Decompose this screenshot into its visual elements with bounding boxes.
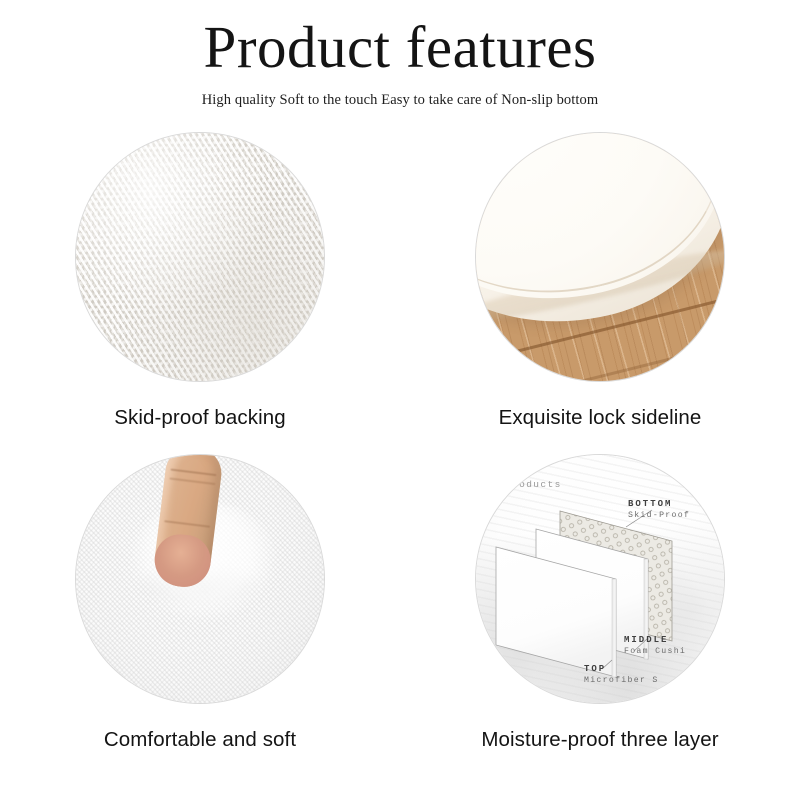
layer-label-top-material: Microfiber S — [584, 676, 670, 685]
layer-label-middle-position: MIDDLE — [624, 635, 698, 645]
feature-card-exquisite-lock-sideline: Exquisite lock sideline — [400, 133, 800, 455]
finger-crease — [171, 469, 217, 477]
mesh-backing-sheen — [76, 133, 324, 381]
layer-diagram-watermark: roducts — [512, 479, 570, 490]
layer-label-bottom-material: Skid-Proof — [628, 511, 690, 520]
layer-label-middle-material: Foam Cushi — [624, 647, 698, 656]
page-title: Product features — [0, 16, 800, 79]
feature-image-exquisite-lock-sideline — [476, 133, 724, 381]
feature-image-moisture-proof-three-layer: roducts BOTTOM Skid-Proof MIDDLE Foam Cu… — [476, 455, 724, 703]
layer-label-top-position: TOP — [584, 664, 670, 674]
features-grid: Skid-proof backing Exquisite lock sideli… — [0, 133, 800, 793]
layer-label-top: TOP Microfiber S — [584, 664, 670, 685]
feature-image-skid-proof-backing — [76, 133, 324, 381]
feature-caption-moisture-proof-three-layer: Moisture-proof three layer — [481, 728, 718, 752]
layer-label-middle: MIDDLE Foam Cushi — [624, 635, 698, 656]
feature-caption-skid-proof-backing: Skid-proof backing — [114, 406, 286, 430]
layer-label-bottom: BOTTOM Skid-Proof — [628, 499, 690, 520]
feature-card-skid-proof-backing: Skid-proof backing — [0, 133, 400, 455]
layer-label-bottom-position: BOTTOM — [628, 499, 690, 509]
feature-caption-exquisite-lock-sideline: Exquisite lock sideline — [499, 406, 702, 430]
feature-caption-comfortable-and-soft: Comfortable and soft — [104, 728, 296, 752]
page-subtitle: High quality Soft to the touch Easy to t… — [0, 92, 800, 109]
feature-card-moisture-proof-three-layer: roducts BOTTOM Skid-Proof MIDDLE Foam Cu… — [400, 455, 800, 777]
finger-crease — [164, 520, 210, 528]
finger-crease — [169, 477, 215, 485]
header: Product features High quality Soft to th… — [0, 0, 800, 109]
feature-card-comfortable-and-soft: Comfortable and soft — [0, 455, 400, 777]
feature-image-comfortable-and-soft — [76, 455, 324, 703]
